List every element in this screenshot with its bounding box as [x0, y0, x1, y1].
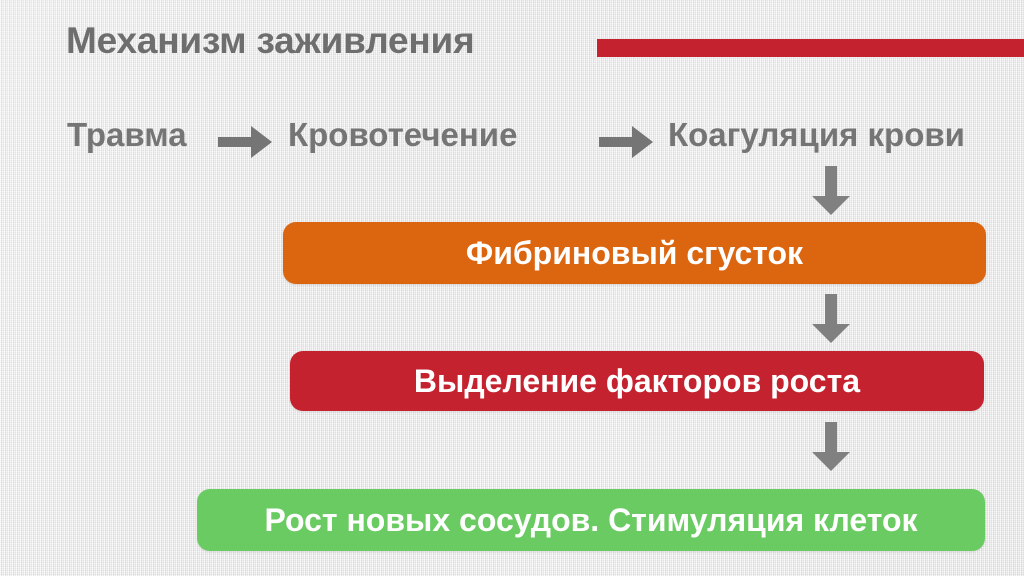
arrow-right-icon [599, 122, 655, 162]
slide-canvas: Механизм заживления Травма Кровотечение … [0, 0, 1024, 576]
arrow-right-icon [218, 122, 274, 162]
flow-box-vessel-growth: Рост новых сосудов. Стимуляция клеток [197, 489, 985, 551]
arrow-down-icon [808, 294, 854, 344]
flow-step-trauma: Травма [67, 116, 187, 154]
arrow-down-icon [808, 166, 854, 216]
flow-box-fibrin-clot-label: Фибриновый сгусток [466, 235, 803, 272]
page-title: Механизм заживления [66, 21, 474, 62]
flow-box-growth-factors-label: Выделение факторов роста [414, 363, 860, 400]
title-accent-bar [597, 39, 1024, 57]
flow-step-coagulation: Коагуляция крови [668, 116, 965, 154]
arrow-down-icon [808, 422, 854, 472]
flow-step-bleeding: Кровотечение [288, 116, 517, 154]
flow-box-vessel-growth-label: Рост новых сосудов. Стимуляция клеток [264, 502, 917, 539]
flow-box-fibrin-clot: Фибриновый сгусток [283, 222, 986, 284]
flow-box-growth-factors: Выделение факторов роста [290, 351, 984, 411]
